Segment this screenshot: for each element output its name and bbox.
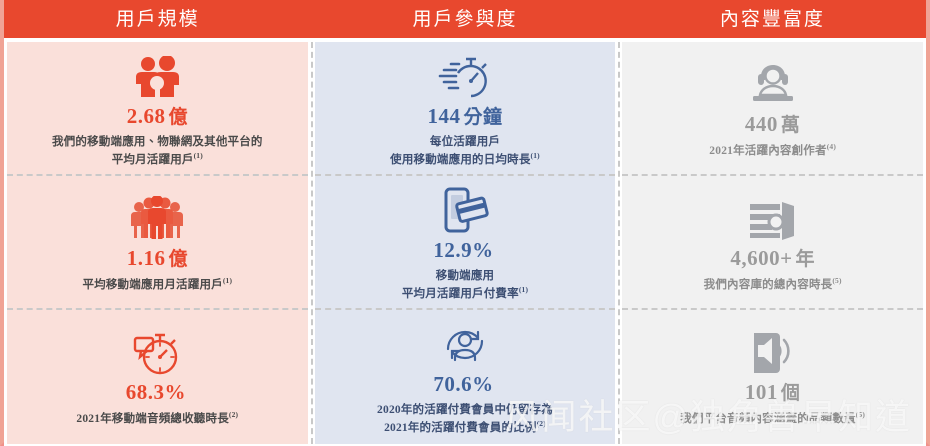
metric-value: 4,600+年 [730, 246, 815, 271]
metric-value: 12.9% [433, 238, 496, 263]
metric-value: 2.68億 [127, 104, 188, 129]
metric-card-daily-time-spent: 144分鐘 每位活躍用戶 使用移動端應用的日均時長(1) [315, 42, 616, 176]
caption-line-2: 2021年的活躍付費會員的比例(2) [377, 419, 553, 437]
metric-card-member-retention: 70.6% 2020年的活躍付費會員中仍留存為 2021年的活躍付費會員的比例(… [315, 310, 616, 444]
footnote-marker: (1) [194, 151, 203, 160]
metric-caption: 2021年移動端音頻總收聽時長(2) [76, 410, 238, 428]
metric-card-content-duration: 4,600+年 我們內容庫的總內容時長(5) [622, 176, 923, 310]
metric-value: 101個 [745, 380, 801, 405]
infographic-container: 用戶規模 用戶參與度 內容豐富度 2.68億 [0, 0, 930, 446]
footnote-marker: (5) [856, 410, 865, 419]
metric-number: 2.68 [127, 104, 166, 128]
caption-line-1: 2021年活躍內容創作者(4) [709, 142, 836, 160]
caption-line-1: 平均移動端應用月活躍用戶(1) [82, 276, 232, 294]
metric-number: 1.16 [127, 246, 166, 270]
metric-caption: 每位活躍用戶 使用移動端應用的日均時長(1) [390, 134, 540, 168]
speed-stopwatch-icon [438, 48, 492, 100]
metric-number: 101 [745, 380, 778, 404]
footnote-marker: (2) [229, 410, 238, 419]
metric-card-mau-total: 2.68億 我們的移動端應用、物聯網及其他平台的 平均月活躍用戶(1) [7, 42, 308, 176]
header-column-user-engagement: 用戶參與度 [311, 10, 618, 29]
podcast-creator-icon [747, 56, 799, 108]
audio-stopwatch-icon [131, 324, 183, 376]
header-column-user-scale: 用戶規模 [4, 10, 311, 29]
caption-line-1: 移動端應用 [402, 268, 528, 285]
footnote-marker: (1) [531, 151, 540, 160]
metric-unit: 個 [781, 383, 801, 404]
metric-value: 144分鐘 [428, 104, 503, 129]
metric-number: 68.3% [126, 380, 186, 404]
metric-caption: 我們平台音頻內容涵蓋的品類數量(5) [680, 410, 865, 428]
metric-unit: 年 [796, 249, 816, 270]
metric-unit: 億 [168, 107, 188, 128]
caption-line-1: 我們的移動端應用、物聯網及其他平台的 [52, 134, 263, 151]
caption-line-1: 我們內容庫的總內容時長(5) [704, 276, 842, 294]
caption-line-1: 每位活躍用戶 [390, 134, 540, 151]
footnote-marker: (2) [537, 419, 546, 428]
metric-value: 440萬 [745, 112, 801, 137]
header-column-content-richness: 內容豐富度 [619, 10, 926, 29]
metric-caption: 移動端應用 平均月活躍用戶付費率(1) [402, 268, 528, 302]
metric-card-audio-listening: 68.3% 2021年移動端音頻總收聽時長(2) [7, 310, 308, 444]
caption-line-2: 平均月活躍用戶付費率(1) [402, 285, 528, 303]
caption-line-1: 2020年的活躍付費會員中仍留存為 [377, 402, 553, 419]
metric-number: 144 [428, 104, 461, 128]
metric-card-content-categories: 101個 我們平台音頻內容涵蓋的品類數量(5) [622, 310, 923, 444]
user-retention-icon [439, 316, 491, 368]
metric-number: 12.9% [433, 238, 493, 262]
metric-caption: 2021年活躍內容創作者(4) [709, 142, 836, 160]
mobile-payment-icon [441, 182, 489, 234]
metric-caption: 我們的移動端應用、物聯網及其他平台的 平均月活躍用戶(1) [52, 134, 263, 168]
metric-number: 440 [745, 112, 778, 136]
audio-book-speaker-icon [748, 324, 798, 376]
caption-line-1: 我們平台音頻內容涵蓋的品類數量(5) [680, 410, 865, 428]
metric-card-paying-ratio: 12.9% 移動端應用 平均月活躍用戶付費率(1) [315, 176, 616, 310]
column-user-engagement: 144分鐘 每位活躍用戶 使用移動端應用的日均時長(1) [315, 42, 616, 444]
column-content-richness: 440萬 2021年活躍內容創作者(4) [622, 42, 923, 444]
metric-value: 70.6% [433, 372, 496, 397]
metric-number: 4,600+ [730, 246, 792, 270]
footnote-marker: (1) [223, 276, 232, 285]
metric-value: 1.16億 [127, 246, 188, 271]
header-bar: 用戶規模 用戶參與度 內容豐富度 [4, 0, 926, 38]
metric-caption: 2020年的活躍付費會員中仍留存為 2021年的活躍付費會員的比例(2) [377, 402, 553, 436]
footnote-marker: (4) [827, 142, 836, 151]
footnote-marker: (1) [519, 285, 528, 294]
metric-card-content-creators: 440萬 2021年活躍內容創作者(4) [622, 42, 923, 176]
caption-line-1: 2021年移動端音頻總收聽時長(2) [76, 410, 238, 428]
metric-number: 70.6% [433, 372, 493, 396]
metric-caption: 平均移動端應用月活躍用戶(1) [82, 276, 232, 294]
metric-unit: 億 [168, 249, 188, 270]
metric-value: 68.3% [126, 380, 189, 405]
metric-card-app-mau: 1.16億 平均移動端應用月活躍用戶(1) [7, 176, 308, 310]
two-people-icon [131, 48, 183, 100]
caption-line-2: 平均月活躍用戶(1) [52, 151, 263, 169]
metrics-grid: 2.68億 我們的移動端應用、物聯網及其他平台的 平均月活躍用戶(1) [4, 38, 926, 446]
metric-caption: 我們內容庫的總內容時長(5) [704, 276, 842, 294]
metric-unit: 萬 [781, 115, 801, 136]
column-user-scale: 2.68億 我們的移動端應用、物聯網及其他平台的 平均月活躍用戶(1) [7, 42, 308, 444]
caption-line-2: 使用移動端應用的日均時長(1) [390, 151, 540, 169]
content-library-icon [748, 190, 798, 242]
footnote-marker: (5) [832, 276, 841, 285]
metric-unit: 分鐘 [464, 107, 503, 128]
crowd-of-people-icon [129, 190, 185, 242]
